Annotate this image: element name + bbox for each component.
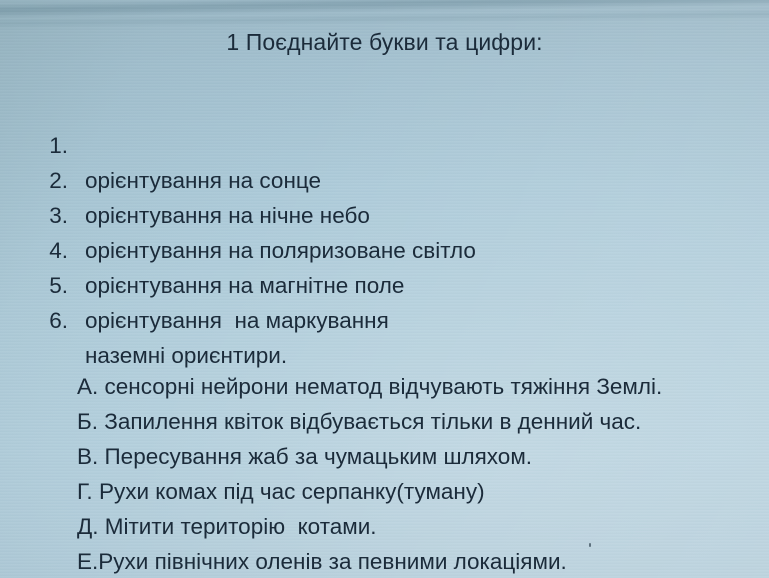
slide-photo: 1 Поєднайте букви та цифри: 1. орієнтува… <box>0 0 769 578</box>
lettered-list: А. сенсорні нейрони нематод відчувають т… <box>0 334 769 544</box>
numbered-list: 1. орієнтування на сонце 2. орієнтування… <box>0 93 769 303</box>
numbered-list-item: 2. орієнтування на нічне небо <box>0 128 769 163</box>
lettered-list-item: Д. Мітити територію котами. <box>0 474 769 509</box>
lettered-list-item: Б. Запилення квіток відбувається тільки … <box>0 369 769 404</box>
lettered-list-item-label: Е.Рухи північних оленів за певними локац… <box>77 544 567 578</box>
lettered-list-item: Е.Рухи північних оленів за певними локац… <box>0 509 769 544</box>
slide-content: 1 Поєднайте букви та цифри: 1. орієнтува… <box>0 0 769 578</box>
lettered-list-item: Г. Рухи комах під час серпанку(туману) <box>0 439 769 474</box>
lettered-list-item: В. Пересування жаб за чумацьким шляхом. <box>0 404 769 439</box>
numbered-list-item: 6. наземні ориєнтири. <box>0 268 769 303</box>
numbered-list-item-label: орієнтування на маркування <box>85 303 389 338</box>
numbered-list-item: 3. орієнтування на поляризоване світло <box>0 163 769 198</box>
numbered-list-item: 5. орієнтування на маркування <box>0 233 769 268</box>
numbered-list-item: 4. орієнтування на магнітне поле <box>0 198 769 233</box>
slide-title: 1 Поєднайте букви та цифри: <box>0 28 769 56</box>
numbered-list-item-marker: 6. <box>40 303 68 338</box>
numbered-list-item: 1. орієнтування на сонце <box>0 93 769 128</box>
lettered-list-item: А. сенсорні нейрони нематод відчувають т… <box>0 334 769 369</box>
